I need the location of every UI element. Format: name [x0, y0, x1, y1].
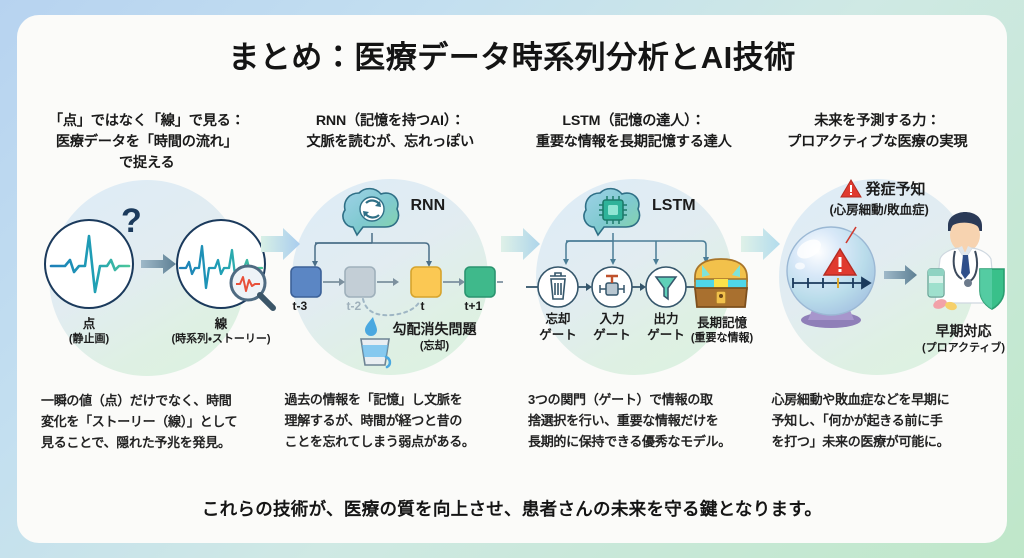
connector-arrow-2 — [501, 227, 541, 261]
crystal-ball-icon — [776, 221, 886, 333]
input-gate-line2: ゲート — [582, 327, 642, 343]
timestep-label-t: t — [421, 299, 425, 313]
column-prediction: 未来を予測する力： プロアクティブな医療の実現 発症予知 (心房細動/敗血症) — [756, 111, 1000, 453]
connector-arrow-3 — [741, 227, 781, 261]
column-3-heading: LSTM（記憶の達人）： 重要な情報を長期記憶する達人 — [536, 111, 732, 173]
question-mark-icon: ? — [117, 202, 151, 246]
body-line: 理解するが、時間が経つと昔の — [285, 410, 501, 431]
column-4-body: 心房細動や敗血症などを早期に 予知し、「何かが起きる前に手 を打つ」未来の医療が… — [762, 385, 994, 452]
body-line: 長期的に保持できる優秀なモデル。 — [528, 431, 744, 452]
heading-line: 未来を予測する力： — [814, 113, 940, 129]
column-4-illustration: 発症予知 (心房細動/敗血症) — [762, 173, 994, 385]
leaking-bucket-icon — [353, 315, 397, 371]
infographic-card: まとめ：医療データ時系列分析とAI技術 「点」ではなく「線」で見る： 医療データ… — [17, 15, 1007, 543]
doctor-icon — [918, 211, 1008, 319]
body-line: 過去の情報を「記憶」し文脈を — [285, 389, 501, 410]
timestep-label-t-2: t-2 — [347, 299, 362, 313]
column-1-body: 一瞬の値（点）だけでなく、時間 変化を「ストーリー（線）」として 見ることで、隠… — [31, 386, 263, 453]
memory-title: 長期記憶 — [678, 315, 766, 331]
column-rnn: RNN（記憶を持つAI）： 文脈を読むが、忘れっぽい RN — [269, 111, 513, 453]
label-line: 線 (時系列・ストーリー) — [159, 316, 283, 346]
body-line: 一瞬の値（点）だけでなく、時間 — [41, 390, 257, 411]
lstm-model-label: LSTM — [652, 197, 696, 215]
label-long-term-memory: 長期記憶 (重要な情報) — [678, 315, 766, 345]
column-lstm: LSTM（記憶の達人）： 重要な情報を長期記憶する達人 — [512, 111, 756, 453]
timestep-label-t-plus-1: t+1 — [465, 299, 483, 313]
column-3-illustration: LSTM — [518, 173, 750, 385]
label-early-response: 早期対応 (プロアクティブ) — [912, 323, 1008, 355]
alert-sub: (心房細動/敗血症) — [830, 199, 929, 218]
input-gate-line1: 入力 — [582, 311, 642, 327]
column-point-vs-line: 「点」ではなく「線」で見る： 医療データを「時間の流れ」 で捉える — [25, 111, 269, 453]
body-line: 3つの関門（ゲート）で情報の取 — [528, 389, 744, 410]
heading-line: 「点」ではなく「線」で見る： — [49, 113, 245, 129]
label-forget-gate: 忘却 ゲート — [528, 311, 588, 343]
body-line: 心房細動や敗血症などを早期に — [772, 389, 988, 410]
heading-line: プロアクティブな医療の実現 — [787, 134, 967, 150]
body-line: を打つ」未来の医療が可能に。 — [772, 431, 988, 452]
heading-line: RNN（記憶を持つAI）： — [316, 113, 465, 129]
body-line: ことを忘れてしまう弱点がある。 — [285, 431, 501, 452]
column-1-heading: 「点」ではなく「線」で見る： 医療データを「時間の流れ」 で捉える — [49, 111, 245, 174]
column-3-body: 3つの関門（ゲート）で情報の取 捨選択を行い、重要な情報だけを 長期的に保持でき… — [518, 385, 750, 452]
vanishing-gradient-sub: (忘却) — [393, 339, 477, 353]
heading-line: 医療データを「時間の流れ」 — [56, 134, 238, 150]
heading-line: 文脈を読むが、忘れっぽい — [306, 134, 474, 150]
columns-container: 「点」ではなく「線」で見る： 医療データを「時間の流れ」 で捉える — [17, 111, 1007, 453]
connector-arrow-1 — [261, 227, 301, 261]
svg-text:?: ? — [121, 202, 142, 240]
alert-title: 発症予知 — [866, 178, 926, 199]
body-line: 変化を「ストーリー（線）」として — [41, 411, 257, 432]
column-1-illustration: ? 点 (静止画) — [31, 174, 263, 386]
page-title: まとめ：医療データ時系列分析とAI技術 — [17, 15, 1007, 76]
label-input-gate: 入力 ゲート — [582, 311, 642, 343]
column-4-heading: 未来を予測する力： プロアクティブな医療の実現 — [787, 111, 967, 173]
body-line: 見ることで、隠れた予兆を発見。 — [41, 432, 257, 453]
vanishing-gradient-title: 勾配消失問題 — [393, 321, 513, 339]
label-line-title: 線 — [159, 316, 283, 332]
inner-arrow-icon-2 — [884, 265, 918, 285]
footer-text: これらの技術が、医療の質を向上させ、患者さんの未来を守る鍵となります。 — [17, 496, 1007, 521]
body-line: 予知し、「何かが起きる前に手 — [772, 410, 988, 431]
heading-line: で捉える — [119, 155, 175, 171]
memory-sub: (重要な情報) — [678, 331, 766, 345]
label-point-sub: (静止画) — [43, 332, 135, 346]
response-sub: (プロアクティブ) — [912, 341, 1008, 355]
body-line: 捨選択を行い、重要な情報だけを — [528, 410, 744, 431]
forget-gate-line2: ゲート — [528, 327, 588, 343]
column-2-heading: RNN（記憶を持つAI）： 文脈を読むが、忘れっぽい — [306, 111, 474, 173]
rnn-model-label: RNN — [411, 197, 446, 215]
column-2-body: 過去の情報を「記憶」し文脈を 理解するが、時間が経つと昔の ことを忘れてしまう弱… — [275, 385, 507, 452]
forget-gate-line1: 忘却 — [528, 311, 588, 327]
label-point: 点 (静止画) — [43, 316, 135, 346]
heading-line: 重要な情報を長期記憶する達人 — [536, 134, 732, 150]
column-2-illustration: RNN t-3 — [275, 173, 507, 385]
label-point-title: 点 — [43, 316, 135, 332]
timestep-label-t-3: t-3 — [293, 299, 308, 313]
treasure-chest-icon — [690, 255, 752, 313]
response-title: 早期対応 — [912, 323, 1008, 341]
heading-line: LSTM（記憶の達人）： — [562, 113, 705, 129]
label-vanishing-gradient: 勾配消失問題 (忘却) — [393, 321, 513, 353]
label-line-sub: (時系列・ストーリー) — [159, 332, 283, 346]
inner-arrow-icon — [141, 254, 177, 274]
warning-triangle-icon — [840, 179, 862, 199]
